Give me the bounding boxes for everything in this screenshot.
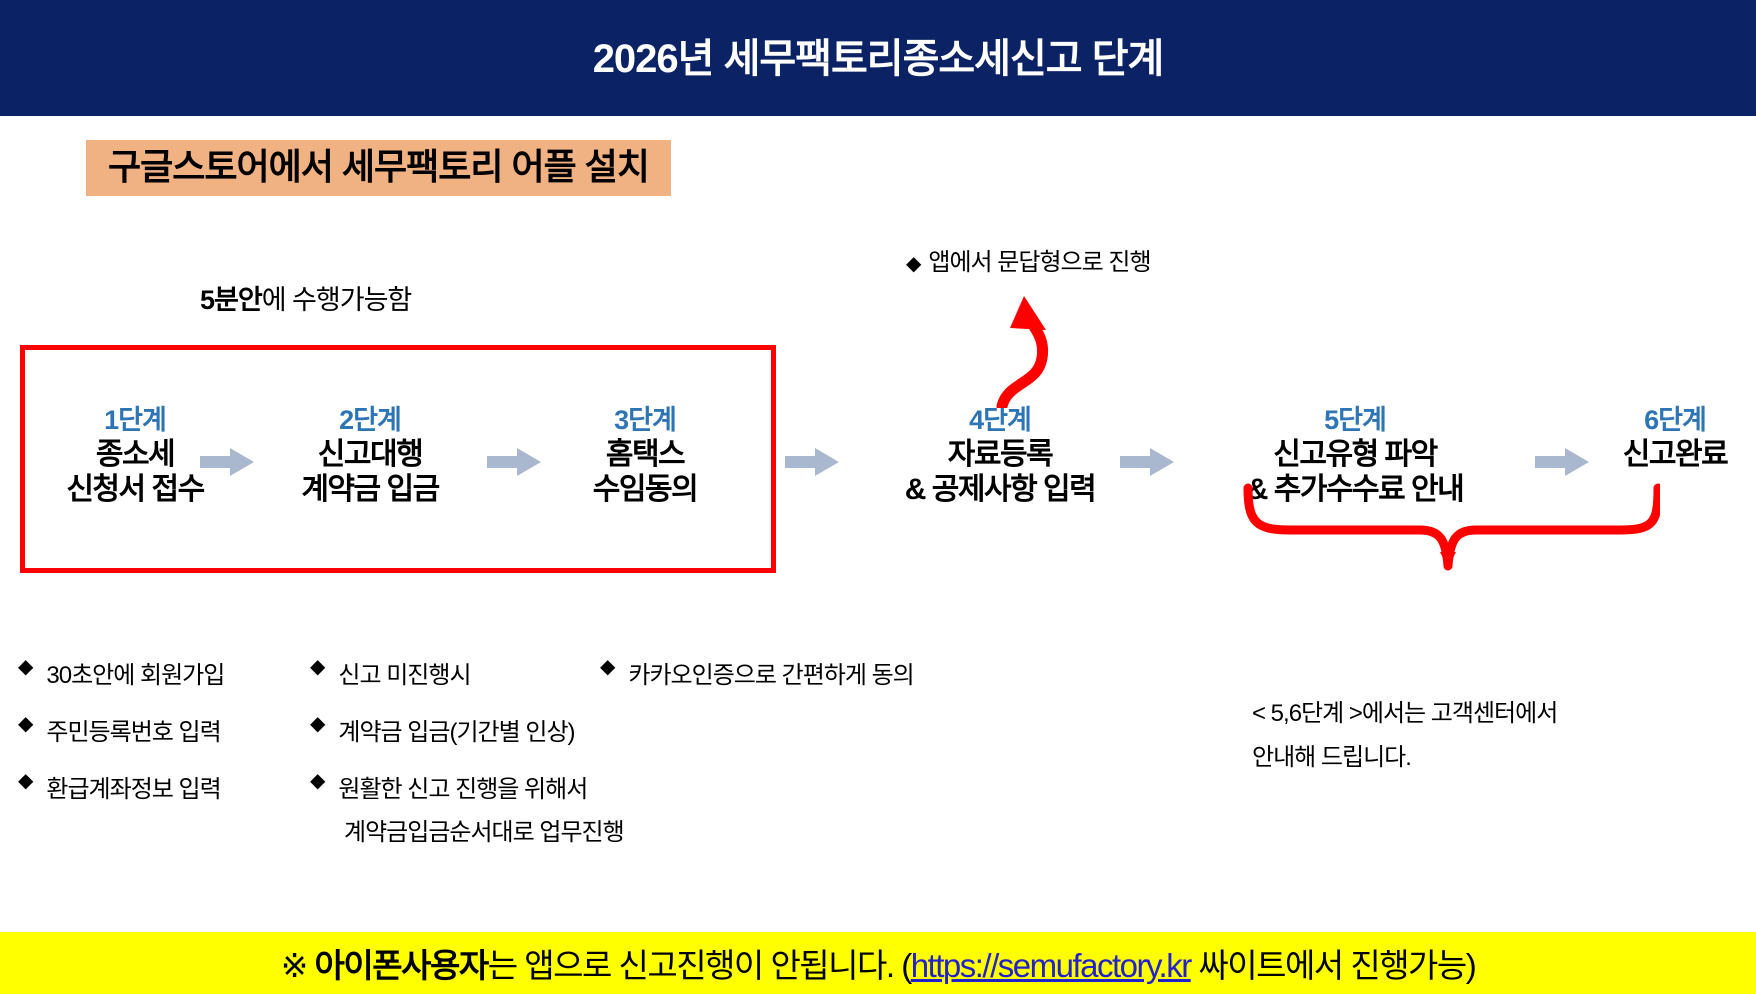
steps-56-note: < 5,6단계 >에서는 고객센터에서 안내해 드립니다. <box>1252 692 1557 781</box>
diamond-bullet-icon: ◆ <box>906 253 920 275</box>
bottom-warning-banner: ※ 아이폰사용자는 앱으로 신고진행이 안됩니다. (https://semuf… <box>0 932 1756 994</box>
step-5-line1: 신고유형 파악 <box>1190 437 1520 472</box>
list-item: ◆ 신고 미진행시 <box>310 655 624 690</box>
arrow-2-to-3 <box>487 447 541 477</box>
list-item-label: 30초안에 회원가입 <box>46 655 224 690</box>
list-item: ◆ 계약금 입금(기간별 인상) <box>310 712 624 747</box>
list-item-label: 환급계좌정보 입력 <box>46 769 220 804</box>
semufactory-link[interactable]: https://semufactory.kr <box>911 947 1191 984</box>
arrow-3-to-4 <box>785 447 839 477</box>
list-item: ◆ 환급계좌정보 입력 <box>18 769 224 804</box>
step-4: 4단계 자료등록 & 공제사항 입력 <box>855 405 1145 508</box>
step-2-line2: 계약금 입금 <box>255 472 485 507</box>
step-6: 6단계 신고완료 <box>1590 405 1756 472</box>
step-1-line2: 신청서 접수 <box>20 472 250 507</box>
callout-app-text: 앱에서 문답형으로 진행 <box>928 249 1150 276</box>
arrow-1-to-2 <box>200 447 254 477</box>
diamond-bullet-icon: ◆ <box>600 655 614 680</box>
step-5-number: 5단계 <box>1190 405 1520 437</box>
list-item-label: 신고 미진행시 <box>338 655 470 690</box>
list-item-label: 주민등록번호 입력 <box>46 712 220 747</box>
warning-bold-part: 아이폰사용자 <box>315 947 488 984</box>
step-2: 2단계 신고대행 계약금 입금 <box>255 405 485 508</box>
list-item-label: 원활한 신고 진행을 위해서 <box>338 769 587 804</box>
diamond-bullet-icon: ◆ <box>18 655 32 680</box>
list-item-continuation: 계약금입금순서대로 업무진행 <box>310 812 624 847</box>
diamond-bullet-icon: ◆ <box>18 769 32 794</box>
diamond-bullet-icon: ◆ <box>18 712 32 737</box>
red-brace-icon <box>1240 482 1660 592</box>
bullet-column-2: ◆ 신고 미진행시 ◆ 계약금 입금(기간별 인상) ◆ 원활한 신고 진행을 … <box>310 655 624 847</box>
timing-note: 5분안에 수행가능함 <box>200 278 411 317</box>
list-item-label: 계약금 입금(기간별 인상) <box>338 712 574 747</box>
step-4-line2: & 공제사항 입력 <box>855 472 1145 507</box>
bottom-warning-text: ※ 아이폰사용자는 앱으로 신고진행이 안됩니다. (https://semuf… <box>281 939 1476 987</box>
timing-note-bold: 5분안 <box>200 285 262 315</box>
subtitle-highlight: 구글스토어에서 세무팩토리 어플 설치 <box>86 140 671 196</box>
bullet-column-3: ◆ 카카오인증으로 간편하게 동의 <box>600 655 914 712</box>
step-3-line1: 홈택스 <box>545 437 745 472</box>
list-item: ◆ 원활한 신고 진행을 위해서 <box>310 769 624 804</box>
steps-56-note-line2: 안내해 드립니다. <box>1252 736 1557 780</box>
step-1-number: 1단계 <box>20 405 250 437</box>
diamond-bullet-icon: ◆ <box>310 769 324 794</box>
warning-mid-part: 는 앱으로 신고진행이 안됩니다. ( <box>488 947 911 984</box>
step-3: 3단계 홈택스 수임동의 <box>545 405 745 508</box>
page-title: 2026년 세무팩토리종소세신고 단계 <box>0 26 1756 84</box>
arrow-5-to-6 <box>1535 447 1589 477</box>
list-item: ◆ 주민등록번호 입력 <box>18 712 224 747</box>
step-6-number: 6단계 <box>1590 405 1756 437</box>
warning-suffix: 싸이트에서 진행가능) <box>1191 947 1476 984</box>
list-item-label: 카카오인증으로 간편하게 동의 <box>628 655 913 690</box>
diamond-bullet-icon: ◆ <box>310 712 324 737</box>
step-2-number: 2단계 <box>255 405 485 437</box>
step-2-line1: 신고대행 <box>255 437 485 472</box>
step-4-number: 4단계 <box>855 405 1145 437</box>
red-curved-arrow-icon <box>980 278 1100 408</box>
timing-note-rest: 에 수행가능함 <box>262 285 412 315</box>
step-3-line2: 수임동의 <box>545 472 745 507</box>
callout-app-note: ◆앱에서 문답형으로 진행 <box>906 242 1151 277</box>
step-4-line1: 자료등록 <box>855 437 1145 472</box>
list-item: ◆ 카카오인증으로 간편하게 동의 <box>600 655 914 690</box>
steps-56-note-line1: < 5,6단계 >에서는 고객센터에서 <box>1252 692 1557 736</box>
step-3-number: 3단계 <box>545 405 745 437</box>
bullet-column-1: ◆ 30초안에 회원가입 ◆ 주민등록번호 입력 ◆ 환급계좌정보 입력 <box>18 655 224 826</box>
warning-prefix: ※ <box>281 947 315 984</box>
arrow-4-to-5 <box>1120 447 1174 477</box>
step-6-line1: 신고완료 <box>1590 437 1756 472</box>
infographic-canvas: 2026년 세무팩토리종소세신고 단계 구글스토어에서 세무팩토리 어플 설치 … <box>0 0 1756 994</box>
diamond-bullet-icon: ◆ <box>310 655 324 680</box>
list-item: ◆ 30초안에 회원가입 <box>18 655 224 690</box>
